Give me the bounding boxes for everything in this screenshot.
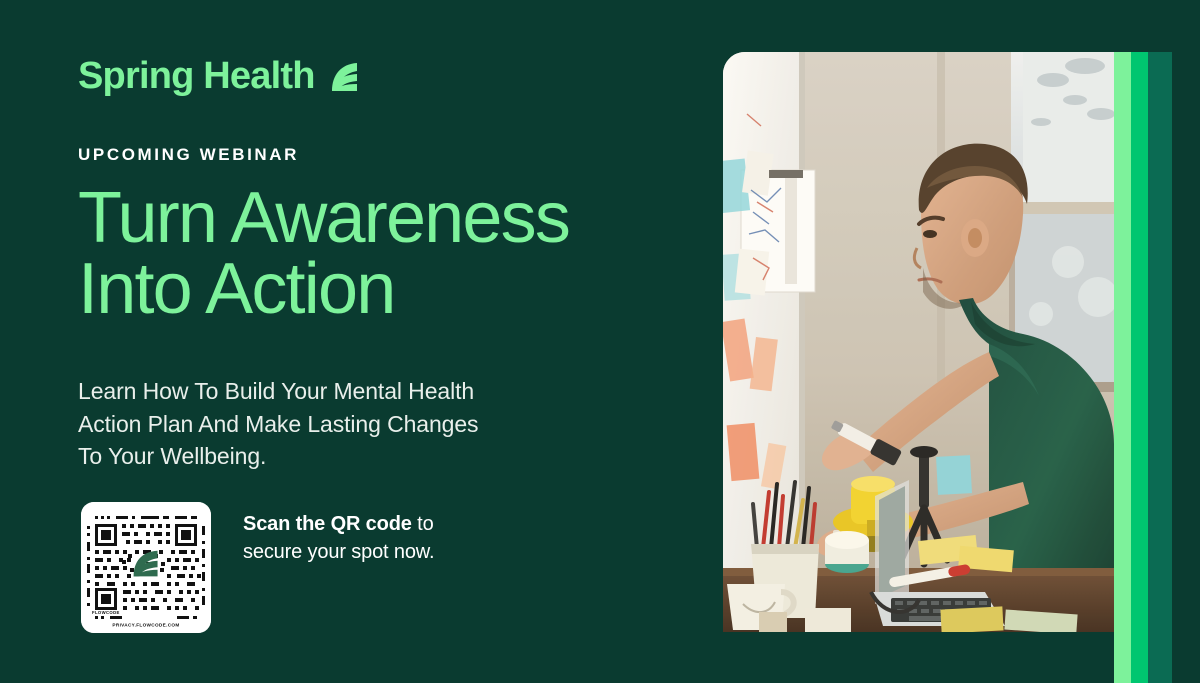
cta-instruction: Scan the QR code to secure your spot now… — [243, 502, 493, 566]
page-title: Turn Awareness Into Action — [78, 183, 698, 326]
headline-line-1: Turn Awareness — [78, 183, 698, 254]
left-content-column: Spring Health UPCOMING WEBINAR Turn Awar… — [78, 0, 698, 683]
light-green-bar — [1114, 52, 1131, 683]
bright-green-bar — [1131, 52, 1148, 683]
qr-brandmark-label: FLOWCODE — [92, 610, 120, 615]
brand-logo: Spring Health — [78, 55, 365, 97]
subheadline: Learn How To Build Your Mental Health Ac… — [78, 375, 558, 473]
headline-line-2: Into Action — [78, 254, 698, 325]
hero-photo — [723, 52, 1114, 632]
subheadline-line-3: To Your Wellbeing. — [78, 440, 558, 473]
cta-bold-text: Scan the QR code — [243, 513, 412, 535]
subheadline-line-1: Learn How To Build Your Mental Health — [78, 375, 558, 408]
subheadline-line-2: Action Plan And Make Lasting Changes — [78, 408, 558, 441]
qr-center-leaf-icon — [130, 547, 163, 580]
qr-privacy-url: PRIVACY.FLOWCODE.COM — [81, 622, 211, 627]
teal-bar — [1148, 52, 1172, 683]
spring-health-leaf-icon — [325, 55, 365, 97]
brand-wordmark: Spring Health — [78, 57, 315, 95]
qr-cta-block: FLOWCODE PRIVACY.FLOWCODE.COM Scan the Q… — [81, 502, 493, 633]
webinar-promo-canvas: Spring Health UPCOMING WEBINAR Turn Awar… — [0, 0, 1200, 683]
eyebrow-label: UPCOMING WEBINAR — [78, 145, 299, 165]
qr-code[interactable]: FLOWCODE PRIVACY.FLOWCODE.COM — [81, 502, 211, 633]
